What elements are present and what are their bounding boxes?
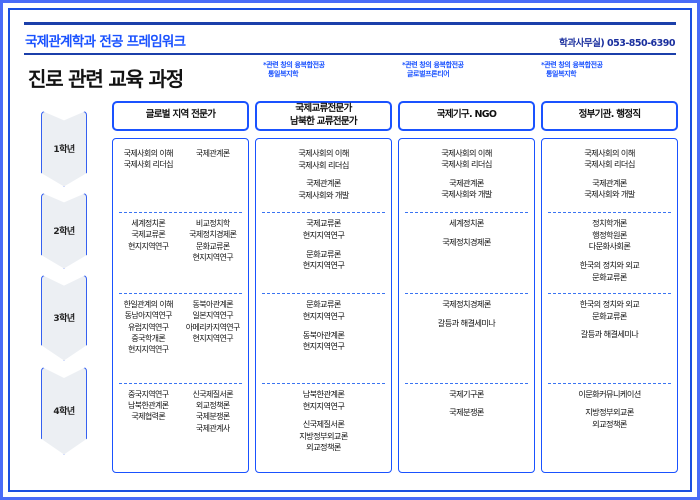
year-label: 3학년 [53, 311, 74, 324]
course-group-b: 국제관계론 국제사회와 개발 [546, 178, 673, 201]
course-group-a: 정치학개론 행정학원론 다문화사회론 [546, 218, 673, 253]
course-item: 일본지역연구 [182, 310, 245, 321]
course-group-right: 비교정치학 국제정치경제론 문화교류론 현지지역연구 [182, 218, 245, 263]
course-item: 현지지역연구 [260, 341, 387, 353]
course-item: 국제교류론 [260, 218, 387, 230]
course-item: 신국제질서론 [260, 419, 387, 431]
career-column-international-org-ngo: 국제기구. NGO 국제사회의 이해 국제사회 리더십 국제관계론 국제사회와 … [398, 101, 535, 473]
course-group-a: 국제정치경제론 [403, 299, 530, 311]
course-item: 문화교류론 [260, 299, 387, 311]
course-group-right: 국제관계론 [182, 148, 245, 178]
year-divider [405, 212, 528, 213]
note-slot-3: *관련 창의 융복합전공 글로벌프론티어 [400, 61, 539, 80]
course-group-b: 국제관계론 국제사회와 개발 [260, 178, 387, 201]
header-brand-row: 국제관계학과 전공 프레임워크 학과사무실) 053-850-6390 [22, 30, 678, 50]
course-item: 국제관계론 [260, 178, 387, 190]
year-rail: 1학년 2학년 3학년 4학년 [22, 101, 106, 473]
course-item: 세계정치론 [403, 218, 530, 230]
note-slot-4: *관련 창의 융복합전공 통일복지학 [539, 61, 678, 80]
course-item: 국제교류론 [117, 229, 180, 240]
course-item: 국제사회 리더십 [403, 159, 530, 171]
course-item: 국제사회의 이해 [260, 148, 387, 160]
note-title: *관련 창의 융복합전공 [402, 61, 539, 70]
course-group-a: 남북한관계론 현지지역연구 [260, 389, 387, 412]
year-block-1: 국제사회의 이해 국제사회 리더십 국제관계론 국제사회와 개발 [260, 148, 387, 212]
course-item: 국제사회와 개발 [260, 190, 387, 202]
year-block-2: 세계정치론 국제교류론 현지지역연구 비교정치학 국제정치경제론 문화교류론 현… [117, 218, 244, 293]
career-column-government-admin: 정부기관. 행정직 국제사회의 이해 국제사회 리더십 국제관계론 국제사회와 … [541, 101, 678, 473]
course-pair: 국제사회의 이해 국제사회 리더십 국제관계론 [117, 148, 244, 178]
year-block-3: 한국의 정치와 외교 문화교류론 갈등과 해결세미나 [546, 299, 673, 383]
course-item: 한일관계의 이해 [117, 299, 180, 310]
course-item: 행정학원론 [546, 230, 673, 242]
course-group-a: 문화교류론 현지지역연구 [260, 299, 387, 322]
course-item: 남북한관계론 [260, 389, 387, 401]
course-group-a: 국제사회의 이해 국제사회 리더십 [546, 148, 673, 171]
course-group-left: 한일관계의 이해 동남아지역연구 유럽지역연구 중국학개론 현지지역연구 [117, 299, 180, 356]
course-item: 국제사회와 개발 [546, 189, 673, 201]
year-block-1: 국제사회의 이해 국제사회 리더십 국제관계론 국제사회와 개발 [546, 148, 673, 213]
course-group-a: 국제교류론 현지지역연구 [260, 218, 387, 241]
course-group-a: 국제사회의 이해 국제사회 리더십 [260, 148, 387, 171]
course-group-b: 한국의 정치와 외교 문화교류론 [546, 260, 673, 283]
course-group-b: 갈등과 해결세미나 [403, 318, 530, 330]
brand-title: 국제관계학과 전공 프레임워크 [25, 30, 185, 50]
course-item: 현지지역연구 [260, 401, 387, 413]
course-group-b: 신국제질서론 지방정부외교론 외교정책론 [260, 419, 387, 454]
career-course-body: 국제사회의 이해 국제사회 리더십 국제관계론 국제사회와 개발 국제교류론 현… [255, 138, 392, 473]
career-column-global-region-expert: 글로벌 지역 전문가 국제사회의 이해 국제사회 리더십 국제관계론 [112, 101, 249, 473]
course-item: 국제기구론 [403, 389, 530, 401]
year-divider [548, 383, 671, 384]
course-group-b: 국제정치경제론 [403, 237, 530, 249]
year-block-1: 국제사회의 이해 국제사회 리더십 국제관계론 [117, 148, 244, 213]
course-pair: 중국지역연구 남북한관계론 국제협력론 신국제질서론 외교정책론 국제분쟁론 국… [117, 389, 244, 434]
course-item: 국제사회 리더십 [546, 159, 673, 171]
note-subtitle: 통일복지학 [263, 70, 400, 79]
course-item: 다문화사회론 [546, 241, 673, 253]
year-label: 4학년 [53, 404, 74, 417]
course-group-left: 국제사회의 이해 국제사회 리더십 [117, 148, 180, 171]
note-subtitle: 통일복지학 [541, 70, 678, 79]
career-title-line: 국제기구. NGO [437, 109, 496, 122]
note-title: *관련 창의 융복합전공 [541, 61, 678, 70]
course-item: 유럽지역연구 [117, 322, 180, 333]
course-group-b: 지방정부외교론 외교정책론 [546, 407, 673, 430]
year-block-4: 중국지역연구 남북한관계론 국제협력론 신국제질서론 외교정책론 국제분쟁론 국… [117, 389, 244, 466]
course-item: 한국의 정치와 외교 [546, 299, 673, 311]
year-divider [119, 293, 242, 294]
course-item: 지방정부외교론 [546, 407, 673, 419]
year-chip-1: 1학년 [41, 111, 87, 187]
curriculum-board: 1학년 2학년 3학년 4학년 글로벌 지역 전문가 [22, 101, 678, 473]
year-block-1: 국제사회의 이해 국제사회 리더십 국제관계론 국제사회와 개발 [403, 148, 530, 213]
course-item: 남북한관계론 [117, 400, 180, 411]
course-item: 이문화커뮤니케이션 [546, 389, 673, 401]
year-divider [405, 383, 528, 384]
year-block-3: 한일관계의 이해 동남아지역연구 유럽지역연구 중국학개론 현지지역연구 동북아… [117, 299, 244, 383]
note-slot-2: *관련 창의 융복합전공 통일복지학 [261, 61, 400, 80]
course-item: 외교정책론 [546, 419, 673, 431]
course-item: 외교정책론 [182, 400, 245, 411]
header-bottom-rule [24, 53, 676, 55]
course-item: 한국의 정치와 외교 [546, 260, 673, 272]
course-item: 국제사회의 이해 [117, 148, 180, 159]
career-column-exchange-expert: 국제교류전문가 남북한 교류전문가 국제사회의 이해 국제사회 리더십 국제관계… [255, 101, 392, 473]
course-item: 아메리카지역연구 [182, 322, 245, 333]
office-phone: 학과사무실) 053-850-6390 [559, 35, 675, 50]
course-group-b: 동북아관계론 현지지역연구 [260, 330, 387, 353]
year-block-4: 이문화커뮤니케이션 지방정부외교론 외교정책론 [546, 389, 673, 466]
year-divider [548, 212, 671, 213]
course-item: 국제정치경제론 [403, 299, 530, 311]
course-item: 국제협력론 [117, 411, 180, 422]
course-item: 정치학개론 [546, 218, 673, 230]
course-item: 국제사회 리더십 [117, 159, 180, 170]
career-title-line: 글로벌 지역 전문가 [146, 109, 216, 122]
title-band: 진로 관련 교육 과정 *관련 창의 융복합전공 통일복지학 *관련 창의 융복… [22, 59, 678, 99]
career-title-line: 국제교류전문가 [295, 103, 351, 116]
course-item: 문화교류론 [546, 311, 673, 323]
year-divider [548, 293, 671, 294]
year-divider [262, 293, 385, 294]
course-pair: 한일관계의 이해 동남아지역연구 유럽지역연구 중국학개론 현지지역연구 동북아… [117, 299, 244, 363]
course-group-b: 문화교류론 현지지역연구 [260, 249, 387, 272]
course-item: 세계정치론 [117, 218, 180, 229]
year-chip-3: 3학년 [41, 275, 87, 361]
course-item: 갈등과 해결세미나 [403, 318, 530, 330]
year-block-4: 국제기구론 국제분쟁론 [403, 389, 530, 466]
course-item: 지방정부외교론 [260, 431, 387, 443]
career-title-line: 정부기관. 행정직 [579, 109, 641, 122]
career-title-line: 남북한 교류전문가 [290, 116, 357, 129]
course-item: 국제관계사 [182, 423, 245, 434]
course-item: 중국학개론 [117, 333, 180, 344]
year-chip-2: 2학년 [41, 193, 87, 269]
course-item: 국제사회 리더십 [260, 160, 387, 172]
year-block-2: 세계정치론 국제정치경제론 [403, 218, 530, 293]
year-divider [119, 383, 242, 384]
note-subtitle: 글로벌프론티어 [402, 70, 539, 79]
course-item: 현지지역연구 [260, 311, 387, 323]
course-item: 갈등과 해결세미나 [546, 329, 673, 341]
header-top-rule [24, 22, 676, 25]
course-item: 동남아지역연구 [117, 310, 180, 321]
course-pair: 세계정치론 국제교류론 현지지역연구 비교정치학 국제정치경제론 문화교류론 현… [117, 218, 244, 263]
course-item: 신국제질서론 [182, 389, 245, 400]
course-item: 비교정치학 [182, 218, 245, 229]
course-group-a: 한국의 정치와 외교 문화교류론 [546, 299, 673, 322]
course-item: 국제사회의 이해 [546, 148, 673, 160]
poster-content: 국제관계학과 전공 프레임워크 학과사무실) 053-850-6390 진로 관… [12, 12, 688, 488]
career-course-body: 국제사회의 이해 국제사회 리더십 국제관계론 국제사회와 개발 세계정치론 [398, 138, 535, 473]
course-group-b: 국제관계론 국제사회와 개발 [403, 178, 530, 201]
course-item: 국제사회의 이해 [403, 148, 530, 160]
course-item: 현지지역연구 [260, 230, 387, 242]
course-item: 국제정치경제론 [182, 229, 245, 240]
course-item: 현지지역연구 [260, 260, 387, 272]
course-item: 국제정치경제론 [403, 237, 530, 249]
course-item: 중국지역연구 [117, 389, 180, 400]
course-item: 현지지역연구 [117, 344, 180, 355]
year-block-2: 국제교류론 현지지역연구 문화교류론 현지지역연구 [260, 218, 387, 293]
year-divider [405, 293, 528, 294]
course-item: 동북아관계론 [182, 299, 245, 310]
career-title-box[interactable]: 국제교류전문가 남북한 교류전문가 [255, 101, 392, 131]
course-item: 국제관계론 [546, 178, 673, 190]
career-title-box[interactable]: 국제기구. NGO [398, 101, 535, 131]
career-course-body: 국제사회의 이해 국제사회 리더십 국제관계론 세계정치론 [112, 138, 249, 473]
year-label: 1학년 [53, 142, 74, 155]
course-group-a: 국제사회의 이해 국제사회 리더십 [403, 148, 530, 171]
year-block-3: 문화교류론 현지지역연구 동북아관계론 현지지역연구 [260, 299, 387, 383]
course-item: 문화교류론 [546, 272, 673, 284]
year-chip-4: 4학년 [41, 367, 87, 455]
course-group-left: 중국지역연구 남북한관계론 국제협력론 [117, 389, 180, 427]
course-item: 국제분쟁론 [182, 411, 245, 422]
course-item: 국제사회와 개발 [403, 189, 530, 201]
course-item: 현지지역연구 [117, 241, 180, 252]
year-block-2: 정치학개론 행정학원론 다문화사회론 한국의 정치와 외교 문화교류론 [546, 218, 673, 293]
career-course-body: 국제사회의 이해 국제사회 리더십 국제관계론 국제사회와 개발 정치학개론 행… [541, 138, 678, 473]
career-title-box[interactable]: 글로벌 지역 전문가 [112, 101, 249, 131]
year-block-3: 국제정치경제론 갈등과 해결세미나 [403, 299, 530, 383]
course-group-right: 동북아관계론 일본지역연구 아메리카지역연구 현지지역연구 [182, 299, 245, 363]
course-item: 문화교류론 [182, 241, 245, 252]
course-item: 외교정책론 [260, 442, 387, 454]
course-item: 현지지역연구 [182, 252, 245, 263]
course-group-b: 갈등과 해결세미나 [546, 329, 673, 341]
year-divider [119, 212, 242, 213]
course-group-a: 국제기구론 [403, 389, 530, 401]
course-group-right: 신국제질서론 외교정책론 국제분쟁론 국제관계사 [182, 389, 245, 434]
year-divider [262, 212, 385, 213]
year-block-4: 남북한관계론 현지지역연구 신국제질서론 지방정부외교론 외교정책론 [260, 389, 387, 466]
course-item: 국제분쟁론 [403, 407, 530, 419]
convergence-major-notes: *관련 창의 융복합전공 통일복지학 *관련 창의 융복합전공 글로벌프론티어 … [122, 61, 678, 80]
course-item: 동북아관계론 [260, 330, 387, 342]
career-title-box[interactable]: 정부기관. 행정직 [541, 101, 678, 131]
course-group-a: 세계정치론 [403, 218, 530, 230]
poster-frame: 국제관계학과 전공 프레임워크 학과사무실) 053-850-6390 진로 관… [0, 0, 700, 500]
course-item: 현지지역연구 [182, 333, 245, 344]
course-item: 국제관계론 [182, 148, 245, 159]
year-divider [262, 383, 385, 384]
year-label: 2학년 [53, 224, 74, 237]
course-group-a: 이문화커뮤니케이션 [546, 389, 673, 401]
course-group-b: 국제분쟁론 [403, 407, 530, 419]
course-item: 국제관계론 [403, 178, 530, 190]
note-title: *관련 창의 융복합전공 [263, 61, 400, 70]
course-group-left: 세계정치론 국제교류론 현지지역연구 [117, 218, 180, 256]
course-item: 문화교류론 [260, 249, 387, 261]
